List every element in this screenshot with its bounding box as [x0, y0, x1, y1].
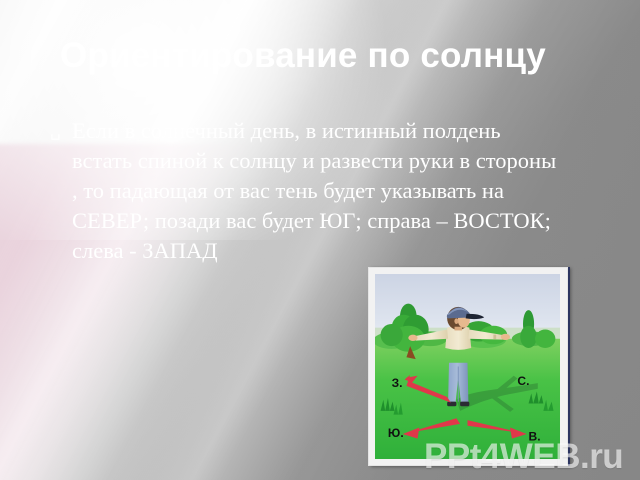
- slide-canvas: Ориентирование по солнцу ␣ Если в солнеч…: [0, 0, 640, 480]
- bullet-text: Если в солнечный день, в истинный полден…: [72, 116, 566, 266]
- illustration-image: З. С. Ю. В.: [375, 274, 560, 459]
- bullet-marker-icon: ␣: [46, 116, 72, 146]
- compass-label-north: С.: [517, 374, 529, 388]
- slide-body: ␣ Если в солнечный день, в истинный полд…: [46, 116, 566, 266]
- slide-title: Ориентирование по солнцу: [60, 36, 620, 76]
- watermark-text: PPt4WEB.ru: [424, 437, 623, 477]
- orientation-scene-svg: З. С. Ю. В.: [375, 274, 560, 459]
- compass-label-south: Ю.: [388, 426, 404, 440]
- list-item: ␣ Если в солнечный день, в истинный полд…: [46, 116, 566, 266]
- compass-label-west: З.: [392, 376, 403, 390]
